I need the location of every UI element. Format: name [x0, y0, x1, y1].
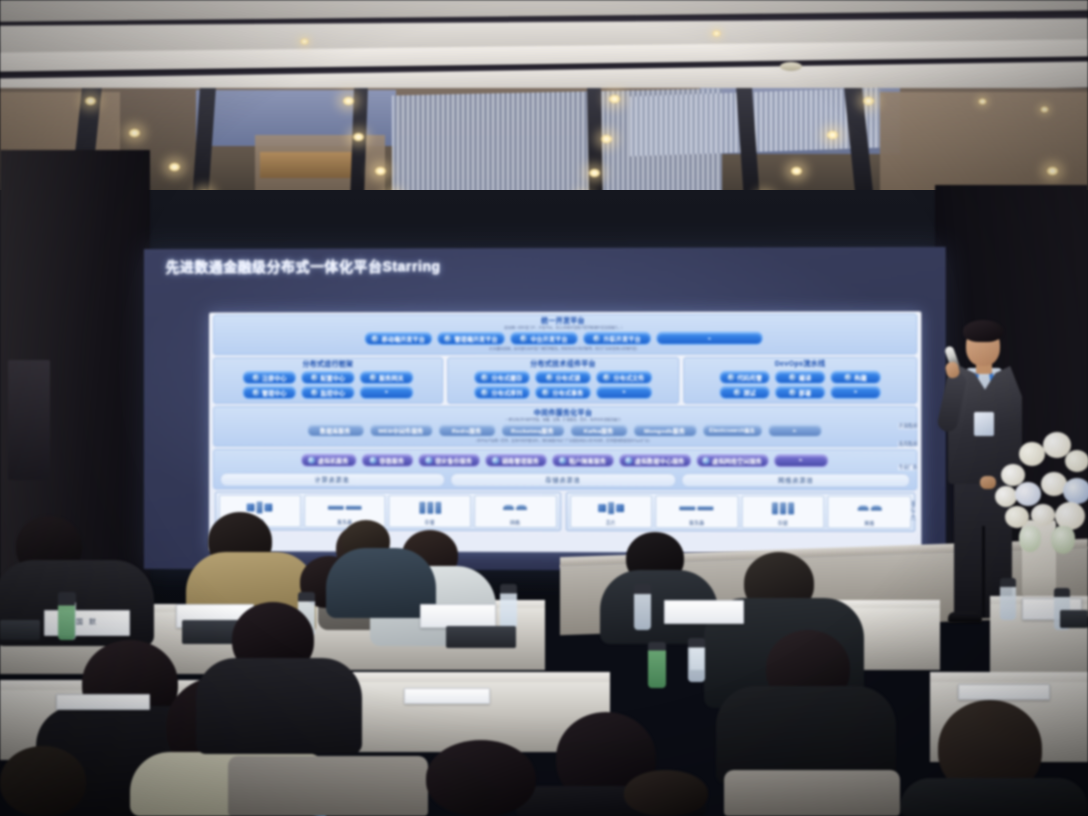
slide-pill-distributed-cache[interactable]: 分布式缓存	[474, 371, 530, 384]
server-icon	[346, 505, 362, 509]
pill-label: 分布式序列	[492, 388, 523, 397]
slide-pill-midplatform-dev[interactable]: 中台开发平台	[510, 332, 578, 345]
pill-label: 租户隔离服务	[569, 456, 606, 465]
foliage-icon	[1051, 526, 1075, 554]
slide-content-card: 统一开发平台 （实现统一的开发门户、开发平台，向上/应用开发用户提供敏捷开发支撑…	[209, 311, 921, 553]
hardware-label: 存储	[778, 520, 788, 526]
layer-items-row-2: 管理中心 监控中心 »	[217, 386, 439, 399]
ceiling-spotlight-icon	[352, 132, 365, 142]
slide-pill-more-1[interactable]: »	[656, 332, 763, 345]
slide-pill-tenant-isolation-service[interactable]: 租户隔离服务	[551, 454, 613, 467]
attendee-body	[196, 658, 362, 754]
pill-bullet-icon	[559, 457, 566, 464]
pill-bullet-icon	[542, 389, 549, 396]
layer-title: 分布式运行框架	[217, 360, 439, 369]
slide-layer-hardware-infrastructure: 芯片 服务器 存储 网络	[215, 491, 915, 531]
layer-title: DevOps流水线	[687, 359, 913, 368]
slide-pill-kafka-service[interactable]: Kafka服务	[570, 424, 628, 437]
pill-label: 代码托管	[737, 373, 762, 382]
side-tag-domestic-platform: 国产平台	[909, 500, 917, 519]
attendee-head	[624, 770, 708, 816]
ceiling-spotlight-icon	[978, 98, 987, 105]
slide-layer-middleware-service-platform: 中间件服务化平台 一套分布式中间件管理、部署、运维、扩容服务、提升、组件化生态服…	[213, 406, 917, 447]
laptop[interactable]	[446, 626, 516, 648]
ceiling-spotlight-icon	[1040, 106, 1049, 113]
storage-icon	[435, 501, 441, 513]
ceiling-spotlight-icon	[600, 134, 613, 144]
laptop[interactable]	[0, 620, 40, 640]
ceiling-spotlight-icon	[790, 166, 803, 176]
slide-pill-redis-service[interactable]: Redis服务	[438, 424, 496, 437]
ceiling-spotlight-icon	[300, 38, 309, 45]
ceiling	[0, 0, 1088, 200]
server-icon-group	[680, 496, 714, 520]
slide-pill-service-gateway[interactable]: 服务网关	[360, 371, 414, 384]
ceiling-wood-panel-right	[880, 92, 1088, 200]
pill-bullet-icon	[625, 457, 632, 464]
ceiling-spotlight-icon	[128, 128, 141, 138]
storage-icon	[772, 502, 778, 514]
pill-bullet-icon	[444, 336, 451, 343]
server-icon-group	[328, 495, 362, 519]
resource-pool-compute[interactable]: 计算资源池	[220, 472, 445, 486]
speaker-badge	[974, 412, 994, 436]
pill-label: 容器服务	[380, 455, 405, 464]
pill-label: 测试	[743, 388, 755, 397]
layer-footnote: （行业最佳实践，自主银行业开发厂商提供服务，面向专业分布式架构、助力广泛业务用人…	[218, 347, 912, 352]
layer-items-row: 数据库服务 WEB中间件服务 Redis服务 Rocketmq服务 Kafka服…	[218, 424, 912, 437]
hardware-cell-network-2[interactable]: 网络	[828, 495, 912, 528]
pill-label: 监控中心	[321, 388, 346, 397]
slide-pill-mobile-dev[interactable]: 移动端开发平台	[365, 333, 433, 346]
server-icon	[680, 506, 696, 510]
slide-pill-distributed-transaction[interactable]: 分布式事务	[535, 386, 591, 399]
pill-label: 分布式锁	[556, 373, 581, 382]
slide-pill-more-5[interactable]: »	[767, 424, 821, 437]
slide-layer-distributed-tech-components: 分布式技术组件平台 分布式缓存 分布式锁 分布式文件 分布式序列 分布式事务 »	[447, 357, 679, 404]
water-bottle[interactable]	[688, 638, 705, 682]
network-icon-group	[503, 496, 527, 520]
slide-layer-devops-pipeline: DevOps流水线 代码托管 编译 构建 测试 部署 »	[683, 356, 917, 403]
network-icon	[503, 505, 514, 510]
hardware-cell-server-2[interactable]: 服务器	[655, 495, 738, 528]
name-card-text: 国 默	[76, 617, 98, 629]
chair-back	[724, 770, 900, 816]
left-wall-panel	[8, 360, 50, 480]
pill-label: 构建	[854, 373, 867, 382]
slide-pill-container-service[interactable]: 容器服务	[361, 453, 413, 466]
hardware-label: 芯片	[606, 520, 616, 526]
notepad[interactable]	[404, 688, 490, 704]
server-icon	[698, 506, 714, 510]
layer-title: 分布式技术组件平台	[451, 360, 675, 369]
pill-bullet-icon	[369, 374, 376, 381]
pill-label: 注册中心	[262, 373, 287, 382]
hardware-label: 存储	[425, 519, 435, 525]
storage-icon-group	[772, 496, 794, 520]
conference-photo-scene: 先进数通金融级分布式一体化平台Starring 统一开发平台 （实现统一的开发门…	[0, 0, 1088, 816]
slide-pill-dr-backup-service[interactable]: 容灾备份服务	[418, 454, 480, 467]
flower-icon	[1031, 504, 1055, 526]
speaker-hand-lower	[980, 476, 996, 489]
attendee-head	[426, 740, 536, 816]
speaker-shoe	[948, 612, 982, 623]
hardware-cell-network[interactable]: 网络	[474, 495, 557, 528]
network-icon	[870, 506, 881, 511]
ceiling-spotlight-icon	[168, 162, 181, 172]
flower-arrangement	[995, 428, 1088, 548]
pill-bullet-icon	[311, 389, 318, 396]
ceiling-light-rail-4	[587, 88, 603, 200]
slide-pill-code-hosting[interactable]: 代码托管	[719, 371, 769, 384]
slide-pill-database-service[interactable]: 数据库服务	[307, 424, 365, 437]
speaker-hair	[963, 320, 1003, 342]
layer-subtitle: 一套分布式中间件管理、部署、运维、扩容服务、提升、组件化生态服务能力	[218, 418, 912, 423]
pill-label: 虚拟数据中心服务	[635, 456, 685, 465]
ceiling-spotlight-icon	[1046, 166, 1059, 176]
pill-label: 虚拟机服务	[318, 455, 349, 464]
storage-icon	[780, 502, 786, 514]
water-bottle[interactable]	[1000, 578, 1016, 620]
pill-label: 部署	[799, 388, 812, 397]
chip-icon	[247, 503, 255, 511]
attendee-head	[0, 746, 86, 816]
storage-icon	[419, 501, 425, 513]
slide-pill-virtual-network-service[interactable]: 虚拟网络空间服务	[696, 454, 768, 467]
flower-icon	[1005, 506, 1029, 528]
slide-pill-distributed-sequence[interactable]: 分布式序列	[474, 386, 530, 399]
name-card: 国 默	[44, 610, 130, 636]
resource-pool-storage[interactable]: 存储资源池	[450, 473, 677, 487]
slide-pill-distributed-lock[interactable]: 分布式锁	[535, 371, 591, 384]
ceiling-accent-strip	[260, 152, 352, 178]
pill-label: 外联开发平台	[603, 334, 640, 343]
ceiling-spotlight-icon	[826, 130, 839, 140]
pill-bullet-icon	[482, 389, 489, 396]
pill-bullet-icon	[308, 456, 315, 463]
pill-bullet-icon	[372, 336, 379, 343]
pill-bullet-icon	[733, 389, 740, 396]
slide-title: 先进数通金融级分布式一体化平台Starring	[166, 256, 441, 277]
slide-pill-deploy[interactable]: 部署	[775, 386, 825, 399]
ceiling-spotlight-icon	[608, 94, 621, 104]
pill-bullet-icon	[482, 374, 489, 381]
pill-bullet-icon	[520, 335, 527, 342]
pill-bullet-icon	[492, 457, 499, 464]
slide-pill-compile[interactable]: 编译	[775, 371, 825, 384]
pill-label: 容灾备份服务	[435, 456, 472, 465]
storage-icon	[788, 502, 794, 514]
ceiling-spotlight-icon	[588, 168, 601, 178]
flower-icon-blue	[1015, 482, 1041, 506]
chip-icon	[608, 502, 614, 514]
pill-label: 分布式缓存	[492, 373, 523, 382]
storage-icon-group	[419, 495, 441, 519]
pill-bullet-icon	[727, 374, 734, 381]
side-tag-professional-vendor: 专业厂商	[898, 464, 919, 470]
laptop[interactable]	[1060, 610, 1088, 628]
slide-pill-more-6[interactable]: »	[773, 454, 827, 467]
layer-footnote: （在平台产品统一提供、支持中间件基本化，面向金融中台厂广泛服务商及公有中间件，提…	[218, 439, 912, 444]
pill-bullet-icon	[425, 457, 432, 464]
slide-pill-web-middleware-service[interactable]: WEB中间件服务	[369, 424, 433, 437]
pill-label: 编译	[799, 373, 812, 382]
chip-icon	[257, 501, 263, 513]
attendee-body	[900, 778, 1088, 816]
pill-label: 分布式事务	[552, 388, 583, 397]
pill-label: 配置中心	[321, 373, 346, 382]
layer-items-row: 分布式缓存 分布式锁 分布式文件	[451, 371, 675, 384]
chip-icon	[598, 504, 606, 512]
pill-label: 服务网关	[379, 373, 404, 382]
ceiling-spotlight-icon	[374, 166, 387, 176]
pill-bullet-icon	[370, 456, 377, 463]
slide-pill-build[interactable]: 构建	[830, 371, 881, 384]
slide-pill-vm-service[interactable]: 虚拟机服务	[301, 453, 357, 466]
slide-layer-distributed-runtime-framework: 分布式运行框架 注册中心 配置中心 服务网关 管理中心 监控中心 »	[213, 357, 443, 404]
hardware-label: 网络	[510, 520, 520, 526]
flower-icon	[995, 486, 1017, 507]
slide-pill-management-center[interactable]: 管理中心	[243, 386, 296, 399]
slide-pill-test[interactable]: 测试	[719, 386, 769, 399]
hardware-label: 服务器	[689, 520, 704, 526]
pill-label: 移动端开发平台	[382, 335, 425, 344]
network-icon-group	[857, 496, 881, 520]
layer-items-row-2: 测试 部署 »	[687, 386, 913, 399]
slide-pill-external-dev[interactable]: 外联开发平台	[583, 332, 651, 345]
pill-bullet-icon	[252, 374, 259, 381]
side-tag-commercial-route: 商用路线	[898, 441, 919, 447]
name-card	[420, 604, 496, 628]
resource-pool-network[interactable]: 网络资源池	[682, 473, 911, 487]
flower-icon-blue	[1063, 478, 1088, 504]
pill-bullet-icon	[546, 374, 553, 381]
slide-pill-link-management-service[interactable]: 链路管理服务	[485, 454, 547, 467]
hardware-group-2: 芯片 服务器 存储 网络	[566, 492, 916, 532]
hardware-cell-storage-2[interactable]: 存储	[741, 495, 824, 528]
slide-pill-monitor-center[interactable]: 监控中心	[301, 386, 355, 399]
pill-label: 虚拟网络空间服务	[712, 456, 762, 465]
hardware-cell-chip-2[interactable]: 芯片	[570, 495, 653, 528]
pill-label: 链路管理服务	[502, 456, 539, 465]
name-card	[664, 600, 744, 624]
pill-bullet-icon	[311, 374, 318, 381]
flower-icon	[1019, 442, 1045, 466]
slide-pill-distributed-file[interactable]: 分布式文件	[596, 371, 652, 384]
notepad[interactable]	[958, 684, 1050, 700]
slide-pill-more-3[interactable]: »	[596, 386, 652, 399]
pill-label: 分布式文件	[614, 373, 645, 382]
layer-title: 中间件服务化平台	[218, 409, 912, 418]
ceiling-spotlight-icon	[342, 96, 355, 106]
hardware-label: 网络	[864, 520, 874, 526]
ceiling-sprinkler-icon	[780, 62, 802, 71]
chip-icon-group	[598, 496, 624, 520]
chair-back	[228, 756, 428, 816]
pill-bullet-icon	[789, 374, 796, 381]
pill-label: 中台开发平台	[530, 334, 567, 343]
server-icon	[328, 505, 344, 509]
layer-items-row: 注册中心 配置中心 服务网关	[217, 371, 439, 384]
water-bottle[interactable]	[648, 642, 666, 688]
slide-pill-mongodb-service[interactable]: Mongodb服务	[633, 424, 697, 437]
slide-pill-rocketmq-service[interactable]: Rocketmq服务	[501, 424, 565, 437]
network-icon	[516, 505, 527, 510]
notepad[interactable]	[56, 694, 150, 710]
layer-items-row-2: 分布式序列 分布式事务 »	[451, 386, 675, 399]
slide-layer-virtualization-service: 虚拟机服务 容器服务 容灾备份服务 链路管理服务 租户隔离服务 虚拟数据中心服务…	[213, 448, 917, 490]
flower-icon	[1065, 450, 1088, 472]
water-bottle[interactable]	[500, 584, 517, 628]
layer-subtitle: （实现统一的开发门户、开发平台，向上/应用开发用户提供敏捷开发支撑能力。）	[218, 325, 912, 330]
ceiling-spotlight-icon	[862, 96, 875, 106]
ceiling-spotlight-icon	[84, 96, 97, 106]
pill-bullet-icon	[702, 457, 709, 464]
slide-pill-admin-dev[interactable]: 管理端开发平台	[437, 332, 505, 345]
water-bottle[interactable]	[634, 584, 651, 630]
slide-pill-elasticsearch-service[interactable]: Elasticsearch服务	[702, 424, 762, 437]
pill-bullet-icon	[844, 374, 851, 381]
slide-pill-more-2[interactable]: »	[360, 386, 414, 399]
pill-bullet-icon	[789, 389, 796, 396]
ceiling-spotlight-icon	[712, 30, 721, 37]
pill-bullet-icon	[593, 335, 600, 342]
slide-layer-unified-dev-platform: 统一开发平台 （实现统一的开发门户、开发平台，向上/应用开发用户提供敏捷开发支撑…	[213, 313, 917, 355]
speaker-leg-split	[982, 526, 985, 618]
layer-items-row: 虚拟机服务 容器服务 容灾备份服务 链路管理服务 租户隔离服务 虚拟数据中心服务…	[218, 453, 912, 467]
slide-pill-config-center[interactable]: 配置中心	[301, 371, 355, 384]
resource-pool-row: 计算资源池 存储资源池 网络资源池	[220, 472, 910, 487]
water-bottle[interactable]	[58, 598, 75, 640]
pill-label: 管理中心	[262, 388, 287, 397]
chip-icon	[616, 504, 624, 512]
pill-label: 管理端开发平台	[454, 334, 497, 343]
pill-bullet-icon	[604, 374, 611, 381]
layer-items-row: 代码托管 编译 构建	[687, 371, 913, 384]
layer-items-row: 移动端开发平台 管理端开发平台 中台开发平台 外联开发平台 »	[218, 332, 912, 346]
network-icon	[857, 506, 868, 511]
pill-bullet-icon	[252, 389, 259, 396]
slide-pill-virtual-datacenter-service[interactable]: 虚拟数据中心服务	[619, 454, 691, 467]
foliage-icon	[1019, 526, 1041, 552]
chip-icon	[265, 503, 273, 511]
storage-icon	[427, 501, 433, 513]
hardware-cell-storage[interactable]: 存储	[389, 494, 471, 527]
slide-layer-middle-row: 分布式运行框架 注册中心 配置中心 服务网关 管理中心 监控中心 » 分布式技术…	[213, 356, 917, 403]
slide-pill-registry-center[interactable]: 注册中心	[243, 371, 296, 384]
side-tag-open-source-route: 开源路线	[898, 423, 919, 429]
slide-pill-more-4[interactable]: »	[830, 386, 881, 399]
